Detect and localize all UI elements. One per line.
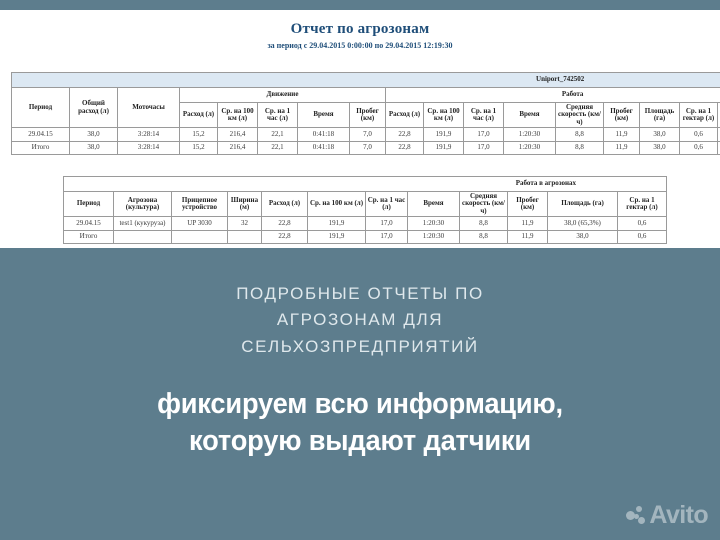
table2-col-time: Время xyxy=(408,192,460,217)
cell: 8,8 xyxy=(556,128,604,142)
table2-col-implement: Прицепное устройство xyxy=(172,192,228,217)
table2-col-avgspeed: Средняя скорость (км/ч) xyxy=(460,192,508,217)
table1-col-move-fuel: Расход (л) xyxy=(180,103,218,128)
cell: 38,0 (65,3%) xyxy=(548,217,618,231)
vehicle-summary-table-wrapper: Uniport_742502 Период Общий расход (л) М… xyxy=(11,72,709,155)
agrozone-work-table-wrapper: Работа в агрозонах Период Агрозона (куль… xyxy=(63,176,666,244)
table1-col-work-per100: Ср. на 100 км (л) xyxy=(424,103,464,128)
cell: 11,9 xyxy=(604,142,640,155)
cell: 191,9 xyxy=(424,128,464,142)
table1-col-move-distance: Пробег (км) xyxy=(350,103,386,128)
table1-col-move-time: Время xyxy=(298,103,350,128)
table1-col-engine-hours: Моточасы xyxy=(118,88,180,128)
table1-group-header-row: Период Общий расход (л) Моточасы Движени… xyxy=(12,88,720,103)
table2-col-fuel: Расход (л) xyxy=(262,192,308,217)
table1-col-work-avgspeed: Средняя скорость (км/ч) xyxy=(556,103,604,128)
cell: 29.04.15 xyxy=(12,128,70,142)
cell: Итого xyxy=(64,231,114,244)
cell xyxy=(228,231,262,244)
cell: 38,0 xyxy=(548,231,618,244)
cell: 22,1 xyxy=(258,142,298,155)
avito-dots-icon xyxy=(626,506,645,525)
cell: 29.04.15 xyxy=(64,217,114,231)
cell: 38,0 xyxy=(640,142,680,155)
cell: 17,0 xyxy=(366,217,408,231)
cell: 17,0 xyxy=(464,128,504,142)
cell: 15,2 xyxy=(180,128,218,142)
promo-banner: ПОДРОБНЫЕ ОТЧЕТЫ ПО АГРОЗОНАМ ДЛЯ СЕЛЬХО… xyxy=(0,248,720,540)
cell: 15,2 xyxy=(180,142,218,155)
cell: 17,0 xyxy=(366,231,408,244)
cell: 216,4 xyxy=(218,128,258,142)
table1-col-work-time: Время xyxy=(504,103,556,128)
table-total-row: Итого 38,0 3:28:14 15,2 216,4 22,1 0:41:… xyxy=(12,142,720,155)
report-area: Отчет по агрозонам за период с 29.04.201… xyxy=(0,10,720,248)
agrozone-work-table: Работа в агрозонах Период Агрозона (куль… xyxy=(63,176,667,244)
cell: 7,0 xyxy=(350,142,386,155)
report-subtitle: за период с 29.04.2015 0:00:00 по 29.04.… xyxy=(0,41,720,50)
promo-subtitle-line: ПОДРОБНЫЕ ОТЧЕТЫ ПО xyxy=(0,281,720,307)
table1-col-total-fuel: Общий расход (л) xyxy=(70,88,118,128)
cell: UP 3030 xyxy=(172,217,228,231)
cell: 0:41:18 xyxy=(298,142,350,155)
table2-col-width: Ширина (м) xyxy=(228,192,262,217)
cell: 22,8 xyxy=(262,217,308,231)
top-accent-strip xyxy=(0,0,720,10)
cell: 0:41:18 xyxy=(298,128,350,142)
table1-col-work-perha: Ср. на 1 гектар (л) xyxy=(680,103,718,128)
cell: 191,9 xyxy=(308,217,366,231)
promo-headline-line: фиксируем всю информацию, xyxy=(22,386,699,423)
cell: 1:20:30 xyxy=(408,231,460,244)
table2-col-agrozone: Агрозона (культура) xyxy=(114,192,172,217)
cell: 22,8 xyxy=(262,231,308,244)
table2-col-area: Площадь (га) xyxy=(548,192,618,217)
cell xyxy=(114,231,172,244)
cell: 11,9 xyxy=(508,231,548,244)
table1-band-row: Uniport_742502 xyxy=(12,73,720,88)
table-row: 29.04.15 38,0 3:28:14 15,2 216,4 22,1 0:… xyxy=(12,128,720,142)
table1-col-work-fuel: Расход (л) xyxy=(386,103,424,128)
cell: 8,8 xyxy=(460,217,508,231)
promo-headline-line: которую выдают датчики xyxy=(22,423,699,460)
table-row: 29.04.15 test1 (кукуруза) UP 3030 32 22,… xyxy=(64,217,667,231)
promo-subtitle-line: СЕЛЬХОЗПРЕДПРИЯТИЙ xyxy=(0,334,720,360)
table-total-row: Итого 22,8 191,9 17,0 1:20:30 8,8 11,9 3… xyxy=(64,231,667,244)
cell: 11,9 xyxy=(508,217,548,231)
vehicle-summary-table: Uniport_742502 Период Общий расход (л) М… xyxy=(11,72,720,155)
table2-band-label: Работа в агрозонах xyxy=(64,177,667,192)
cell: 8,8 xyxy=(556,142,604,155)
table1-group-movement: Движение xyxy=(180,88,386,103)
cell: 38,0 xyxy=(70,142,118,155)
table2-col-distance: Пробег (км) xyxy=(508,192,548,217)
cell xyxy=(172,231,228,244)
cell: 8,8 xyxy=(460,231,508,244)
table1-col-period: Период xyxy=(12,88,70,128)
cell: Итого xyxy=(12,142,70,155)
cell: 22,8 xyxy=(386,128,424,142)
promo-subtitle-line: АГРОЗОНАМ ДЛЯ xyxy=(0,307,720,333)
cell: 0,6 xyxy=(618,217,667,231)
cell: 1:20:30 xyxy=(504,142,556,155)
cell: 22,1 xyxy=(258,128,298,142)
cell: 191,9 xyxy=(308,231,366,244)
cell: 1:20:30 xyxy=(504,128,556,142)
cell: 0,6 xyxy=(680,128,718,142)
table2-col-perhour: Ср. на 1 час (л) xyxy=(366,192,408,217)
cell: 3:28:14 xyxy=(118,128,180,142)
table1-col-work-area: Площадь (га) xyxy=(640,103,680,128)
cell: 22,8 xyxy=(386,142,424,155)
table2-band-row: Работа в агрозонах xyxy=(64,177,667,192)
cell: test1 (кукуруза) xyxy=(114,217,172,231)
table1-col-work-perhour: Ср. на 1 час (л) xyxy=(464,103,504,128)
cell: 191,9 xyxy=(424,142,464,155)
table1-group-work: Работа xyxy=(386,88,720,103)
cell: 11,9 xyxy=(604,128,640,142)
table1-band-label: Uniport_742502 xyxy=(12,73,720,88)
promo-subtitle: ПОДРОБНЫЕ ОТЧЕТЫ ПО АГРОЗОНАМ ДЛЯ СЕЛЬХО… xyxy=(0,281,720,360)
avito-watermark: Avito xyxy=(626,501,708,530)
table2-col-perha: Ср. на 1 гектар (л) xyxy=(618,192,667,217)
cell: 0,6 xyxy=(618,231,667,244)
table1-col-move-per100: Ср. на 100 км (л) xyxy=(218,103,258,128)
cell: 0,6 xyxy=(680,142,718,155)
cell: 38,0 xyxy=(70,128,118,142)
table2-col-period: Период xyxy=(64,192,114,217)
cell: 3:28:14 xyxy=(118,142,180,155)
table1-col-work-distance: Пробег (км) xyxy=(604,103,640,128)
cell: 7,0 xyxy=(350,128,386,142)
cell: 216,4 xyxy=(218,142,258,155)
report-title: Отчет по агрозонам xyxy=(0,21,720,38)
cell: 17,0 xyxy=(464,142,504,155)
cell: 38,0 xyxy=(640,128,680,142)
table2-header-row: Период Агрозона (культура) Прицепное уст… xyxy=(64,192,667,217)
promo-headline: фиксируем всю информацию, которую выдают… xyxy=(22,386,699,460)
table1-col-move-perhour: Ср. на 1 час (л) xyxy=(258,103,298,128)
avito-wordmark: Avito xyxy=(649,501,708,530)
cell: 32 xyxy=(228,217,262,231)
cell: 1:20:30 xyxy=(408,217,460,231)
table2-col-per100: Ср. на 100 км (л) xyxy=(308,192,366,217)
